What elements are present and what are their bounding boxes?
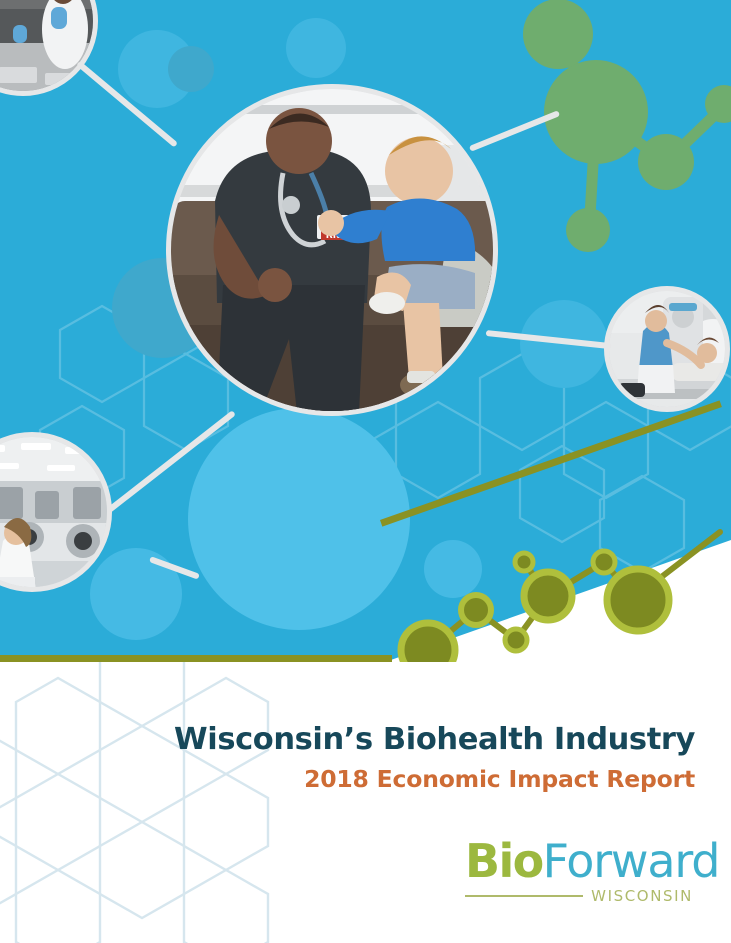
hero-bottom-edge-bar xyxy=(0,655,392,662)
logo-wordmark: BioForward xyxy=(465,838,719,884)
logo-state-text: WISCONSIN xyxy=(591,887,693,905)
title-block: Wisconsin’s Biohealth Industry 2018 Econ… xyxy=(174,724,695,792)
hero-banner: RN xyxy=(0,0,731,672)
decor-circle-small-left xyxy=(168,46,214,92)
nurse-and-child-image: RN xyxy=(171,89,498,416)
logo-bio-text: Bio xyxy=(465,834,543,888)
page-subtitle: 2018 Economic Impact Report xyxy=(174,766,695,792)
bioforward-logo[interactable]: BioForward WISCONSIN xyxy=(465,838,693,905)
logo-divider-rule xyxy=(465,895,583,897)
cover-footer-area: Wisconsin’s Biohealth Industry 2018 Econ… xyxy=(0,662,731,943)
molecule-cluster-green-icon xyxy=(470,0,731,286)
molecule-chain-olive-icon xyxy=(376,518,731,672)
decor-circle-upper-mid xyxy=(286,18,346,78)
page-title: Wisconsin’s Biohealth Industry xyxy=(174,724,695,757)
logo-underline-row: WISCONSIN xyxy=(465,887,693,905)
hexagon-lattice-white-icon xyxy=(0,662,282,943)
logo-forward-text: Forward xyxy=(543,834,720,888)
photo-mri-scan-right xyxy=(604,286,730,412)
report-cover-page: RN xyxy=(0,0,731,943)
photo-nurse-and-child-center: RN xyxy=(166,84,498,416)
